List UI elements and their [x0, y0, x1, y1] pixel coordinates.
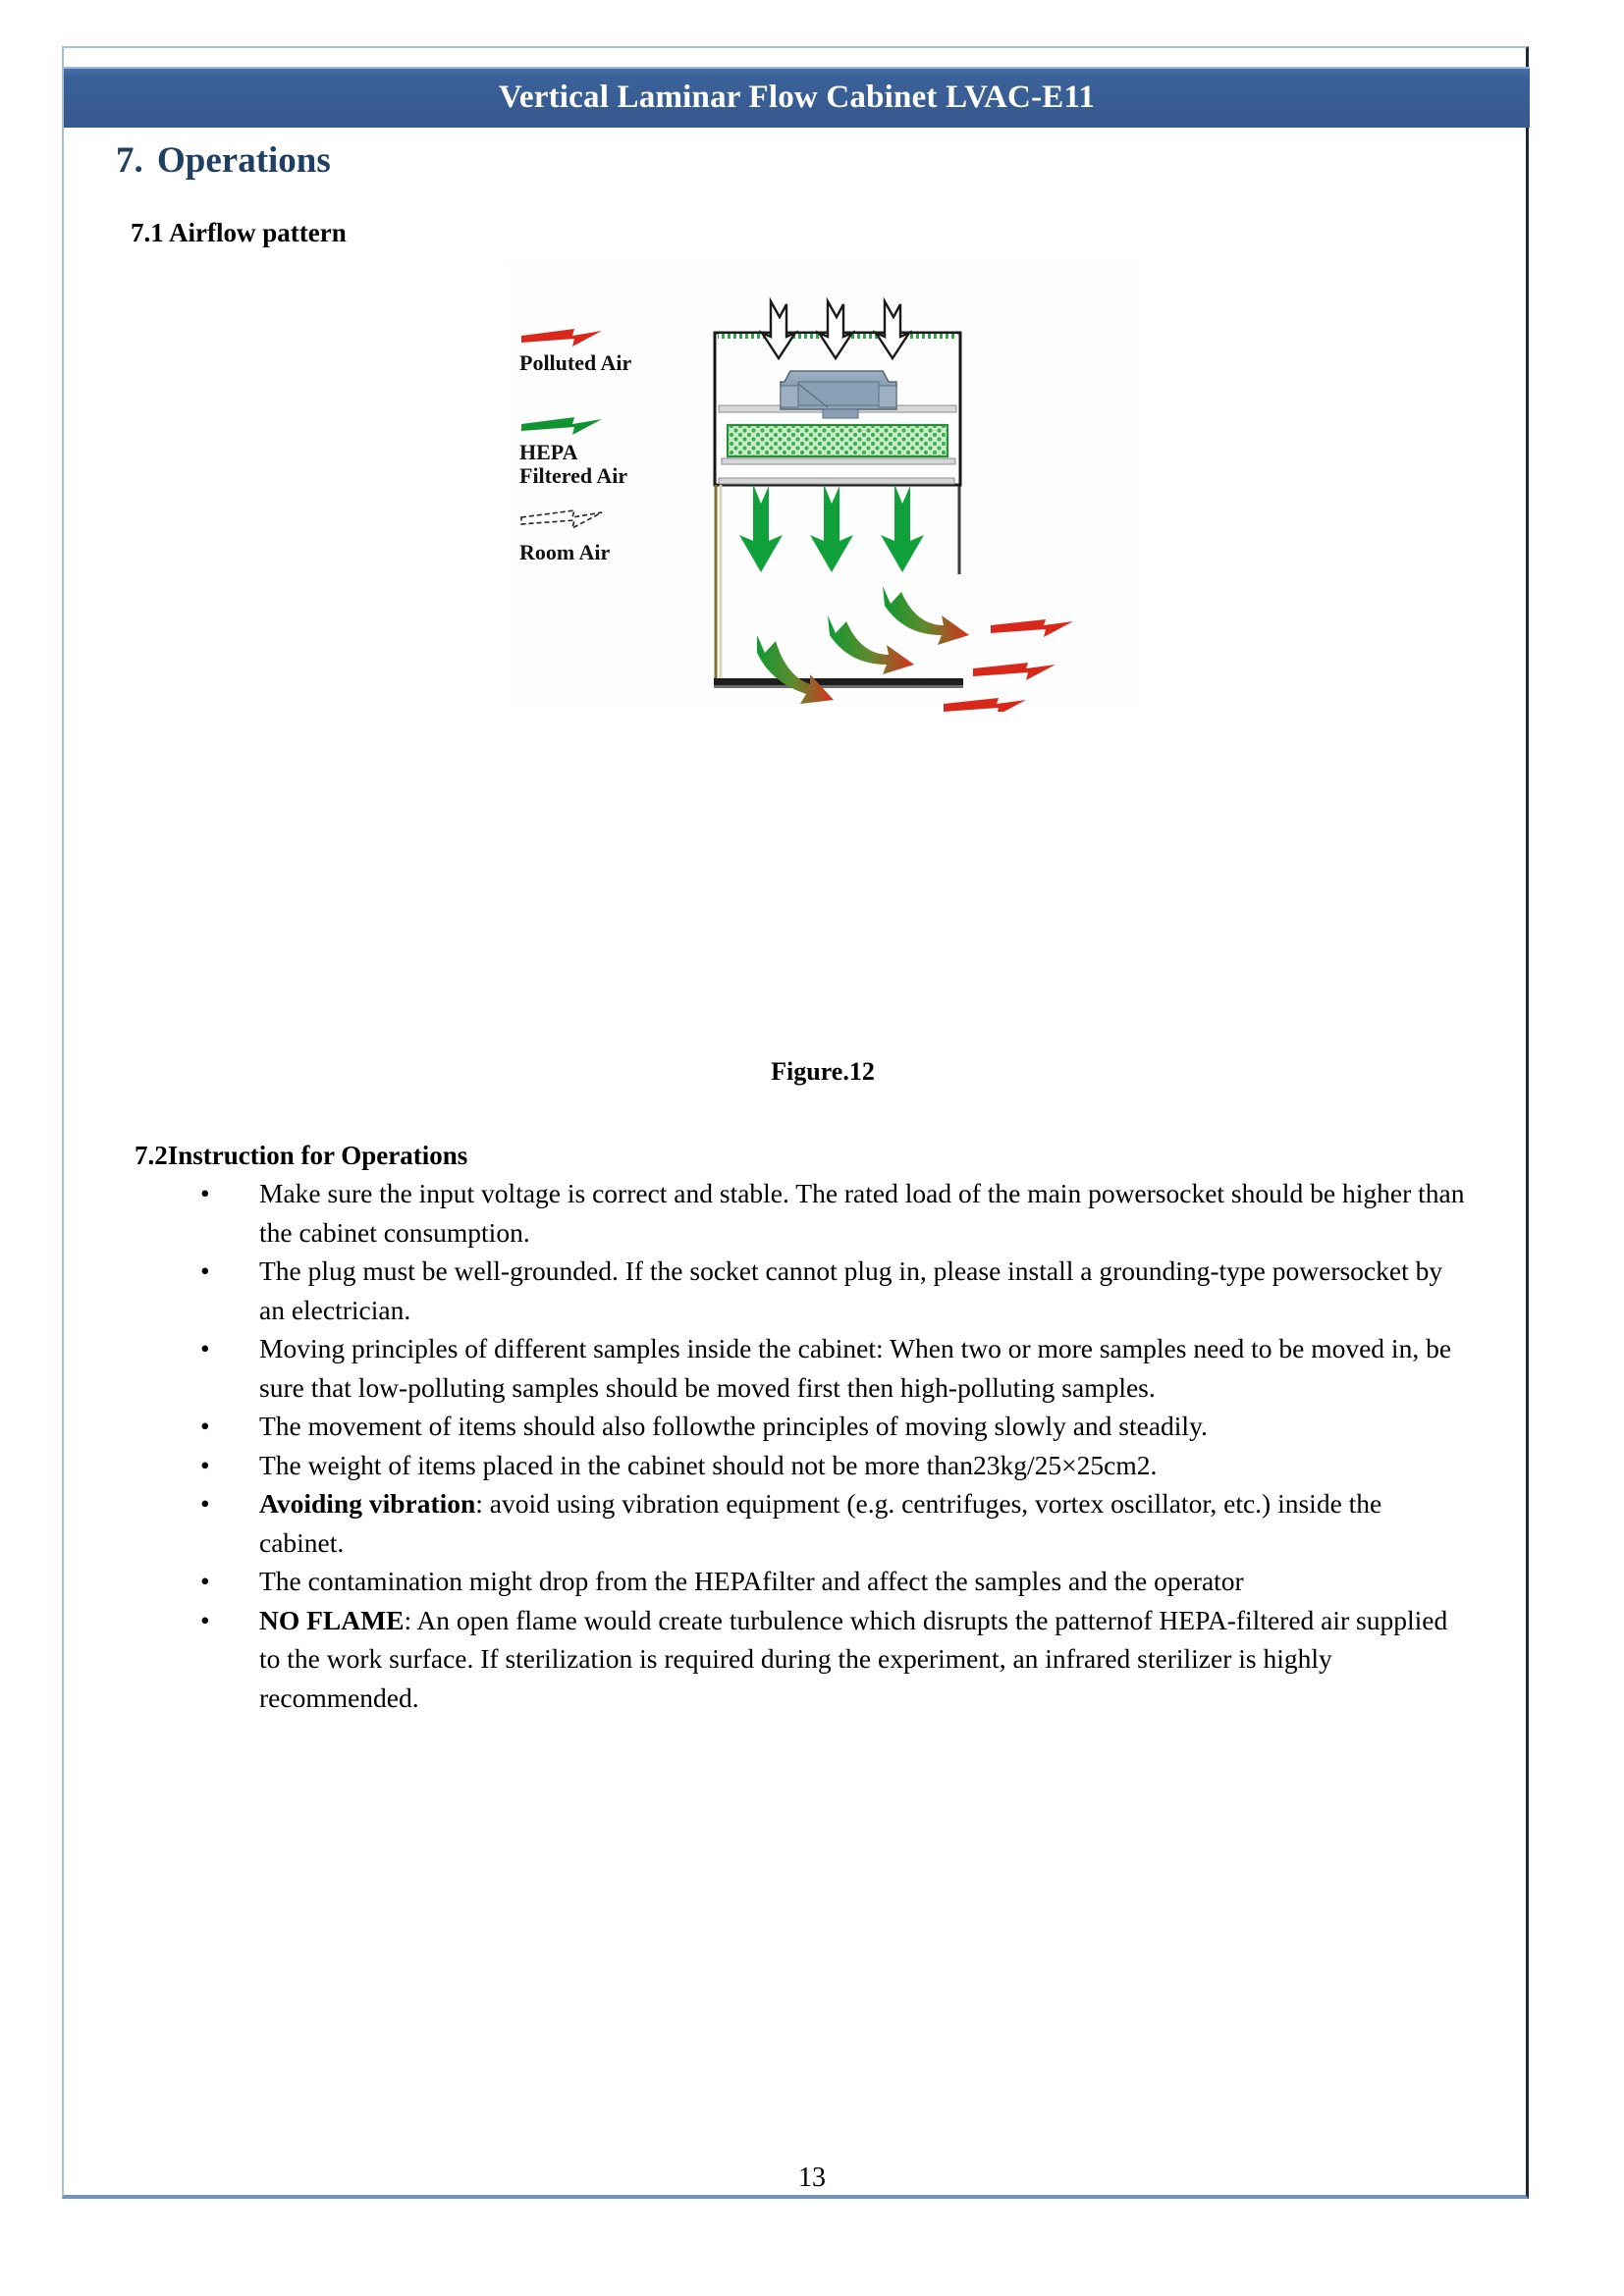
legend-label-polluted-air: Polluted Air: [519, 350, 632, 375]
list-item: • The movement of items should also foll…: [177, 1407, 1473, 1446]
page-header-banner: Vertical Laminar Flow Cabinet LVAC-E11: [64, 67, 1530, 128]
instructions-list: • Make sure the input voltage is correct…: [177, 1174, 1473, 1717]
list-item-bold: NO FLAME: [259, 1605, 404, 1635]
list-item: • The weight of items placed in the cabi…: [177, 1446, 1473, 1485]
page-number: 13: [0, 2163, 1624, 2194]
list-item: • The plug must be well-grounded. If the…: [177, 1252, 1473, 1329]
bullet-marker: •: [200, 1484, 210, 1523]
section-number: 7.: [116, 139, 157, 182]
list-item-text: NO FLAME: An open flame would create tur…: [259, 1601, 1473, 1718]
bullet-marker: •: [200, 1562, 210, 1601]
list-item-text: Make sure the input voltage is correct a…: [259, 1174, 1473, 1252]
bullet-marker: •: [200, 1407, 210, 1446]
figure-caption: Figure.12: [504, 1057, 1142, 1087]
airflow-diagram-svg: Polluted Air HEPA Filtered Air Room Air: [504, 260, 1142, 712]
list-item-text: Moving principles of different samples i…: [259, 1329, 1473, 1407]
list-item: • NO FLAME: An open flame would create t…: [177, 1601, 1473, 1718]
legend-room-air-arrow: [521, 510, 602, 528]
hepa-filter: [722, 425, 955, 464]
page-title: 7.Operations: [116, 139, 331, 182]
bullet-marker: •: [200, 1446, 210, 1485]
list-item: • Moving principles of different samples…: [177, 1329, 1473, 1407]
blower-unit: [719, 371, 956, 418]
list-item-text: The contamination might drop from the HE…: [259, 1562, 1473, 1601]
legend-label-hepa-line1: HEPA: [519, 440, 578, 464]
list-item-text: Avoiding vibration: avoid using vibratio…: [259, 1484, 1473, 1562]
bullet-marker: •: [200, 1329, 210, 1368]
legend-label-hepa-line2: Filtered Air: [519, 463, 627, 488]
list-item: • Make sure the input voltage is correct…: [177, 1174, 1473, 1252]
list-item-text: The plug must be well-grounded. If the s…: [259, 1252, 1473, 1329]
list-item-bold: Avoiding vibration: [259, 1488, 475, 1519]
list-item-text: The weight of items placed in the cabine…: [259, 1446, 1473, 1485]
hepa-downflow-arrows: [739, 484, 924, 572]
document-page: Vertical Laminar Flow Cabinet LVAC-E11 7…: [0, 0, 1624, 2296]
bullet-marker: •: [200, 1174, 210, 1213]
page-header-title: Vertical Laminar Flow Cabinet LVAC-E11: [499, 80, 1095, 116]
subsection-heading-instructions: 7.2Instruction for Operations: [135, 1141, 467, 1171]
bullet-marker: •: [200, 1252, 210, 1291]
legend-polluted-air-arrow: [521, 329, 602, 347]
bullet-marker: •: [200, 1601, 210, 1640]
room-air-intake-arrows: [762, 301, 909, 358]
figure-airflow-diagram: Polluted Air HEPA Filtered Air Room Air: [504, 260, 1142, 712]
subsection-heading-airflow: 7.1 Airflow pattern: [131, 218, 347, 248]
section-title: Operations: [157, 140, 331, 181]
legend-hepa-air-arrow: [521, 417, 602, 435]
legend-label-room-air: Room Air: [519, 540, 611, 564]
list-item: • Avoiding vibration: avoid using vibrat…: [177, 1484, 1473, 1562]
list-item: • The contamination might drop from the …: [177, 1562, 1473, 1601]
list-item-text: The movement of items should also follow…: [259, 1407, 1473, 1446]
figure-canvas: Polluted Air HEPA Filtered Air Room Air: [504, 260, 1142, 712]
